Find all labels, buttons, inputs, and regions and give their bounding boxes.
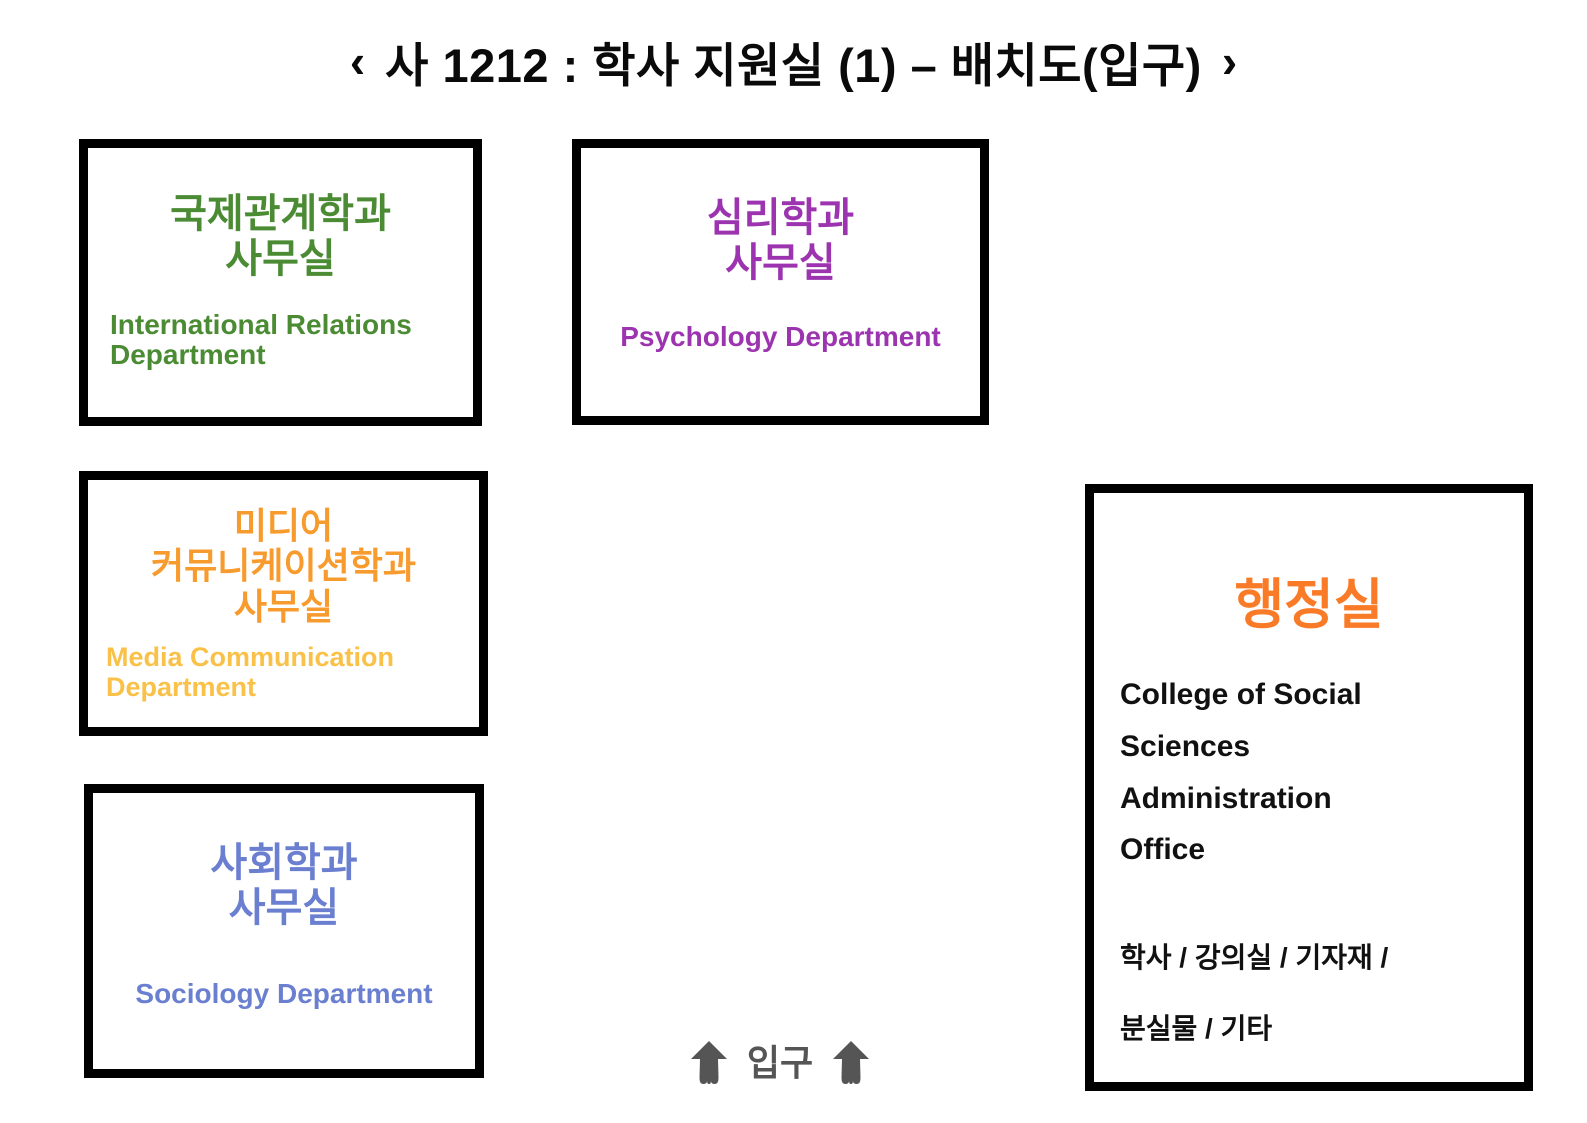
- arrow-up-right-icon: [831, 1040, 871, 1086]
- room-services-list: 학사 / 강의실 / 기자재 / 분실물 / 기타: [1120, 922, 1498, 1065]
- room-content: 국제관계학과 사무실 International Relations Depar…: [88, 148, 473, 417]
- room-media-communication[interactable]: 미디어 커뮤니케이션학과 사무실 Media Communication Dep…: [79, 471, 488, 736]
- room-name-english: College of Social Sciences Administratio…: [1120, 669, 1498, 875]
- room-content: 심리학과 사무실 Psychology Department: [581, 148, 980, 416]
- page-title-bar: ‹ 사 1212 : 학사 지원실 (1) – 배치도(입구) ›: [0, 22, 1587, 100]
- room-name-english: International Relations Department: [110, 310, 412, 372]
- room-name-korean: 국제관계학과 사무실: [170, 192, 391, 282]
- prev-chevron-icon[interactable]: ‹: [350, 38, 365, 84]
- room-content: 미디어 커뮤니케이션학과 사무실 Media Communication Dep…: [88, 480, 479, 727]
- room-name-korean: 미디어 커뮤니케이션학과 사무실: [151, 506, 416, 627]
- arrow-up-left-icon: [689, 1040, 729, 1086]
- page-title: 사 1212 : 학사 지원실 (1) – 배치도(입구): [385, 27, 1202, 96]
- room-international-relations[interactable]: 국제관계학과 사무실 International Relations Depar…: [79, 139, 482, 426]
- room-sociology[interactable]: 사회학과 사무실 Sociology Department: [84, 784, 484, 1078]
- room-psychology[interactable]: 심리학과 사무실 Psychology Department: [572, 139, 989, 425]
- room-name-korean: 심리학과 사무실: [707, 196, 854, 286]
- room-name-english: Sociology Department: [135, 979, 432, 1010]
- room-name-english: Psychology Department: [620, 322, 941, 353]
- entrance-marker: 입구: [670, 1032, 890, 1094]
- entrance-label: 입구: [747, 1045, 813, 1081]
- next-chevron-icon[interactable]: ›: [1222, 38, 1237, 84]
- room-name-english: Media Communication Department: [106, 643, 394, 702]
- room-content: 행정실 College of Social Sciences Administr…: [1094, 493, 1524, 1082]
- room-administration-office[interactable]: 행정실 College of Social Sciences Administr…: [1085, 484, 1533, 1091]
- room-name-korean: 행정실: [1120, 575, 1498, 635]
- room-content: 사회학과 사무실 Sociology Department: [93, 793, 475, 1069]
- room-name-korean: 사회학과 사무실: [210, 841, 357, 931]
